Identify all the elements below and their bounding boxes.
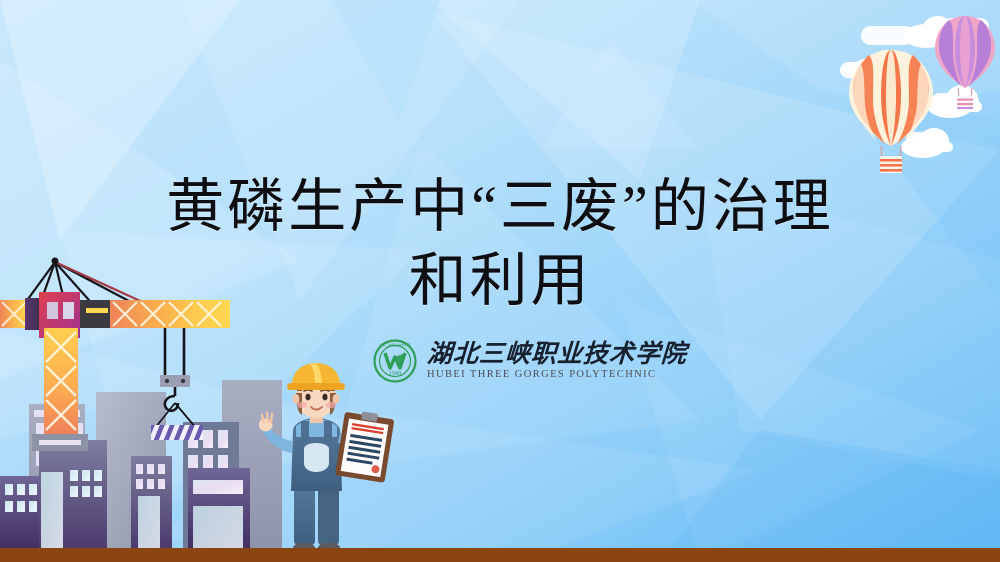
logo-text-column: 湖北三峡职业技术学院 HUBEI THREE GORGES POLYTECHNI… xyxy=(427,341,687,381)
ground-strip xyxy=(0,548,1000,562)
slide-title-line-1: 黄磷生产中“三废”的治理 xyxy=(0,170,1000,244)
hazard-barrier xyxy=(151,422,203,444)
emblem-year-text: 1949 xyxy=(389,371,401,377)
svg-text:湖北三峡职业技术学院: 湖北三峡职业技术学院 xyxy=(380,342,411,347)
large-orange-balloon xyxy=(845,48,937,176)
institution-logo: 1949 湖北三峡职业技术学院 湖北三峡职业技术学院 HUBEI THREE G… xyxy=(373,339,687,383)
small-purple-balloon xyxy=(930,14,1000,110)
institution-name-cn: 湖北三峡职业技术学院 xyxy=(426,341,687,368)
construction-worker-illustration xyxy=(258,363,398,553)
university-emblem-icon: 1949 湖北三峡职业技术学院 xyxy=(373,339,417,383)
institution-name-en: HUBEI THREE GORGES POLYTECHNIC xyxy=(427,369,687,381)
presentation-slide: 黄磷生产中“三废”的治理 和利用 xyxy=(0,0,1000,562)
